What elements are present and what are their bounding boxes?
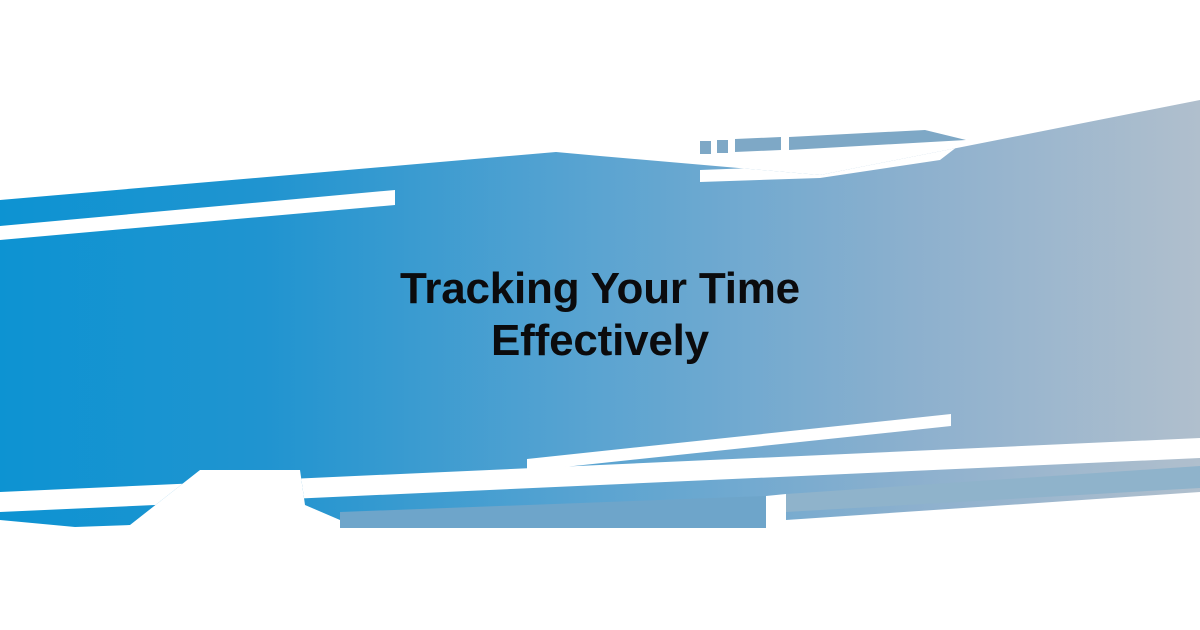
banner-canvas: Tracking Your Time Effectively [0, 0, 1200, 630]
bottom-dash-separator [766, 494, 786, 530]
top-dash-square-1 [700, 141, 711, 154]
top-dash-short [735, 137, 781, 152]
top-dash-long [789, 130, 966, 150]
banner-decorative-graphic [0, 0, 1200, 630]
blue-gradient-band [0, 0, 1200, 630]
top-right-dash-group [700, 130, 966, 154]
top-dash-square-2 [717, 140, 728, 153]
